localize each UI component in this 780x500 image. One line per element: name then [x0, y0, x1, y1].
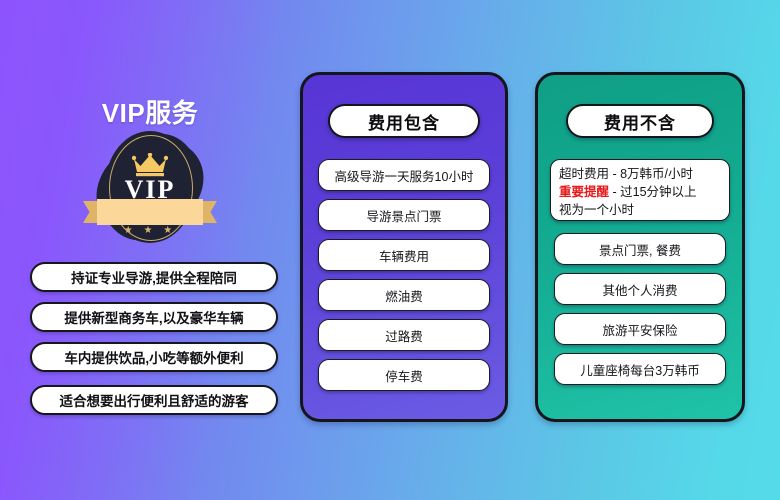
ribbon-band [97, 199, 203, 225]
panel-included-header: 费用包含 [328, 104, 480, 138]
list-item[interactable]: 提供新型商务车,以及豪华车辆 [30, 302, 278, 332]
list-item[interactable]: 儿童座椅每台3万韩币 [554, 353, 726, 385]
list-item[interactable]: 景点门票, 餐费 [554, 233, 726, 265]
note-line-2-rest: - 过15分钟以上 [609, 185, 697, 199]
vip-badge: VIP ★ ★ ★ [75, 131, 225, 253]
list-item[interactable]: 过路费 [318, 319, 490, 351]
badge-stars: ★ ★ ★ [75, 225, 225, 236]
list-item[interactable]: 高级导游一天服务10小时 [318, 159, 490, 191]
note-highlight: 重要提醒 [559, 185, 609, 199]
list-item[interactable]: 适合想要出行便利且舒适的游客 [30, 385, 278, 415]
list-item[interactable]: 停车费 [318, 359, 490, 391]
list-item[interactable]: 导游景点门票 [318, 199, 490, 231]
list-item[interactable]: 旅游平安保险 [554, 313, 726, 345]
crown-icon [132, 153, 168, 177]
list-item[interactable]: 燃油费 [318, 279, 490, 311]
badge-ribbon [83, 199, 217, 225]
page-title: VIP服务 [0, 93, 300, 130]
note-line-3: 视为一个小时 [559, 203, 634, 217]
list-item[interactable]: 持证专业导游,提供全程陪同 [30, 262, 278, 292]
left-column: VIP服务 VIP ★ ★ ★ 持证专业导游,提供全程陪同 提供新型商务 [0, 0, 300, 500]
panel-excluded-header: 费用不含 [566, 104, 714, 138]
panel-excluded: 费用不含 超时费用 - 8万韩币/小时 重要提醒 - 过15分钟以上 视为一个小… [535, 72, 745, 422]
list-item[interactable]: 车内提供饮品,小吃等额外便利 [30, 342, 278, 372]
panel-included: 费用包含 高级导游一天服务10小时 导游景点门票 车辆费用 燃油费 过路费 停车… [300, 72, 508, 422]
poster-canvas: VIP服务 VIP ★ ★ ★ 持证专业导游,提供全程陪同 提供新型商务 [0, 0, 780, 500]
note-line-1: 超时费用 - 8万韩币/小时 [559, 167, 693, 181]
list-item[interactable]: 其他个人消费 [554, 273, 726, 305]
list-item[interactable]: 车辆费用 [318, 239, 490, 271]
important-note[interactable]: 超时费用 - 8万韩币/小时 重要提醒 - 过15分钟以上 视为一个小时 [550, 159, 730, 221]
